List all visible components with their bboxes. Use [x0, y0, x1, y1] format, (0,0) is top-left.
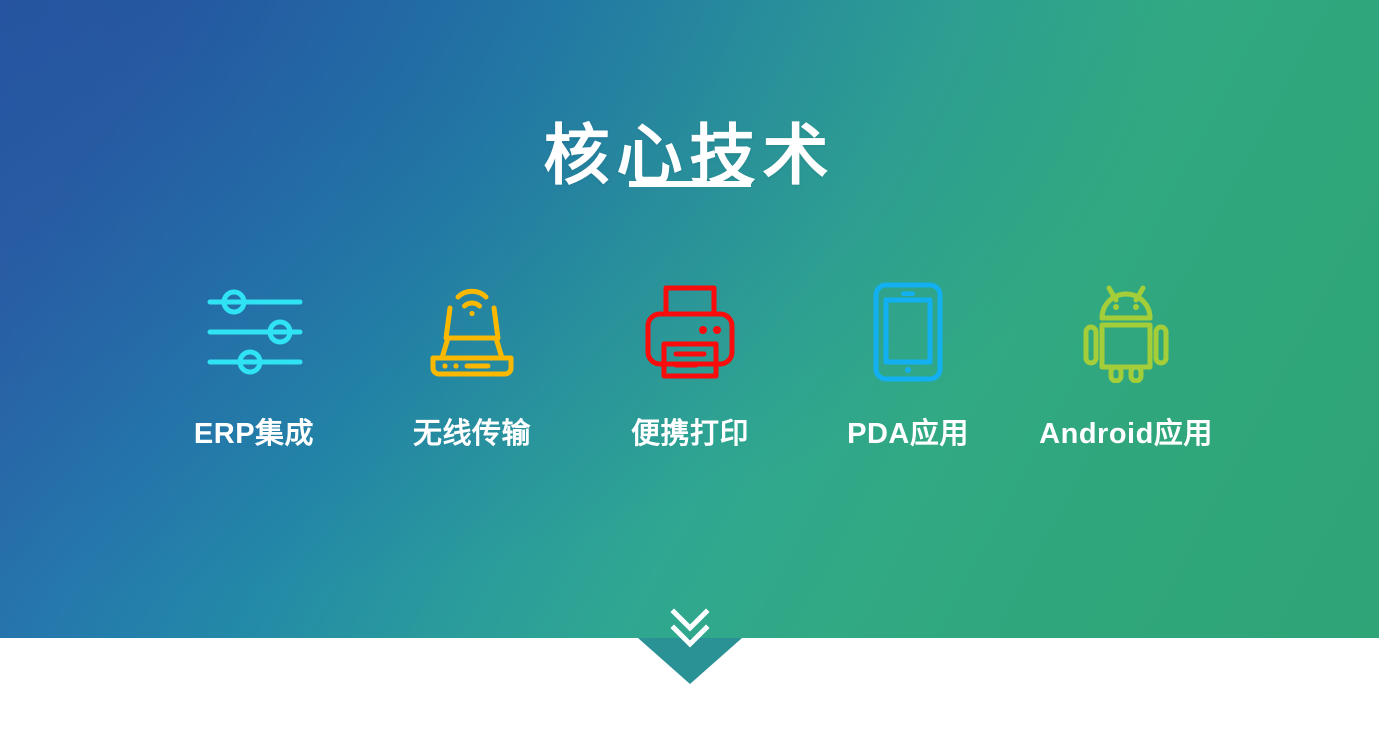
- feature-item-erp[interactable]: ERP集成: [145, 276, 363, 452]
- feature-list: ERP集成: [145, 276, 1235, 452]
- feature-item-pda[interactable]: PDA应用: [799, 276, 1017, 452]
- double-chevron-down-icon[interactable]: [668, 604, 712, 650]
- feature-label-printer: 便携打印: [581, 410, 799, 452]
- feature-label-erp: ERP集成: [145, 410, 363, 452]
- feature-item-wireless[interactable]: 无线传输: [363, 276, 581, 452]
- title-divider: [629, 181, 751, 187]
- page-title: 核心技术: [0, 122, 1379, 188]
- feature-label-wireless: 无线传输: [363, 410, 581, 452]
- core-technology-section: 核心技术 ERP集成: [0, 0, 1379, 638]
- feature-item-printer[interactable]: 便携打印: [581, 276, 799, 452]
- tablet-device-icon: [799, 276, 1017, 388]
- printer-icon: [581, 276, 799, 388]
- hero-content: 核心技术 ERP集成: [0, 0, 1379, 638]
- feature-label-android: Android应用: [1017, 410, 1235, 452]
- wireless-router-icon: [363, 276, 581, 388]
- page-root: 核心技术 ERP集成: [0, 0, 1379, 755]
- android-robot-icon: [1017, 276, 1235, 388]
- sliders-icon: [145, 276, 363, 388]
- feature-label-pda: PDA应用: [799, 410, 1017, 452]
- feature-item-android[interactable]: Android应用: [1017, 276, 1235, 452]
